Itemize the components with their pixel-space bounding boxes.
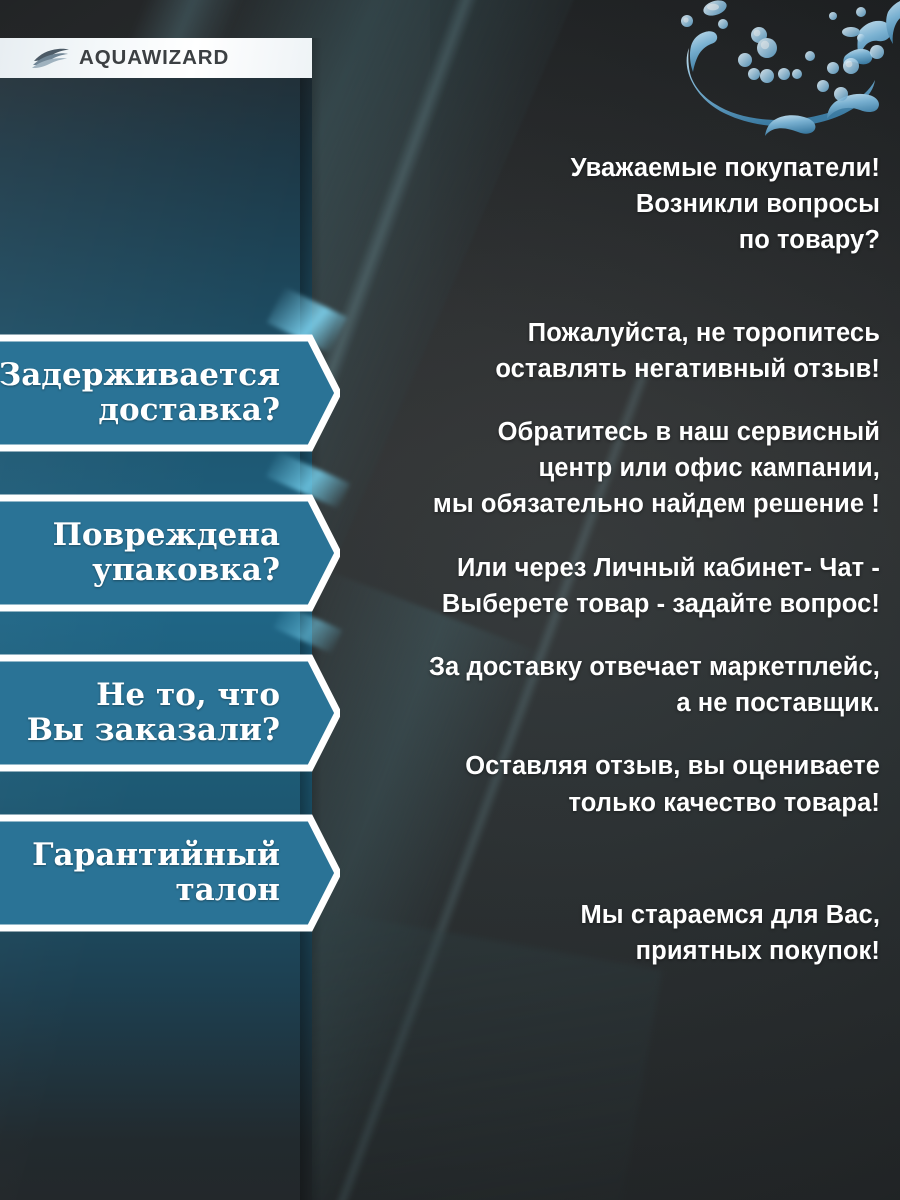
logo-bar: AQUAWIZARD (0, 38, 312, 78)
banner-line-2: талон (175, 872, 280, 908)
banner-warranty-card[interactable]: Гарантийный талон (0, 814, 340, 932)
banner-label: Гарантийный талон (0, 838, 294, 907)
logo: AQUAWIZARD (0, 47, 229, 69)
banner-packaging-damaged[interactable]: Повреждена упаковка? (0, 494, 340, 612)
message-closing: Мы стараемся для Вас, приятных покупок! (330, 897, 890, 969)
banner-line-2: доставка? (98, 392, 280, 428)
banner-line-2: упаковка? (92, 552, 280, 588)
banner-line-1: Не то, что (96, 677, 280, 713)
water-splash-icon (655, 0, 900, 165)
left-panel (0, 38, 312, 1200)
message-column: Уважаемые покупатели! Возникли вопросы п… (330, 150, 890, 969)
banner-line-2: Вы заказали? (27, 712, 280, 748)
banner-label: Повреждена упаковка? (0, 518, 294, 587)
message-greeting: Уважаемые покупатели! Возникли вопросы п… (330, 150, 890, 259)
message-delivery-responsibility: За доставку отвечает маркетплейс, а не п… (330, 649, 890, 721)
banner-line-1: Гарантийный (32, 837, 280, 873)
message-review-quality: Оставляя отзыв, вы оцениваете только кач… (330, 748, 890, 820)
message-contact-service: Обратитесь в наш сервисный центр или офи… (330, 414, 890, 523)
banner-delivery-delayed[interactable]: Задерживается доставка? (0, 334, 340, 452)
wave-icon (32, 47, 70, 69)
banner-line-1: Задерживается (0, 357, 280, 393)
message-chat-instructions: Или через Личный кабинет- Чат - Выберете… (330, 550, 890, 622)
banner-label: Не то, что Вы заказали? (0, 678, 294, 747)
banner-line-1: Повреждена (53, 517, 280, 553)
logo-text: AQUAWIZARD (79, 48, 229, 69)
banner-label: Задерживается доставка? (0, 358, 294, 427)
banner-wrong-item[interactable]: Не то, что Вы заказали? (0, 654, 340, 772)
promo-card: AQUAWIZARD Задерживается доставка? Повре… (0, 0, 900, 1200)
left-panel-sheen (0, 38, 312, 1200)
message-no-negative-review: Пожалуйста, не торопитесь оставлять нега… (330, 315, 890, 387)
